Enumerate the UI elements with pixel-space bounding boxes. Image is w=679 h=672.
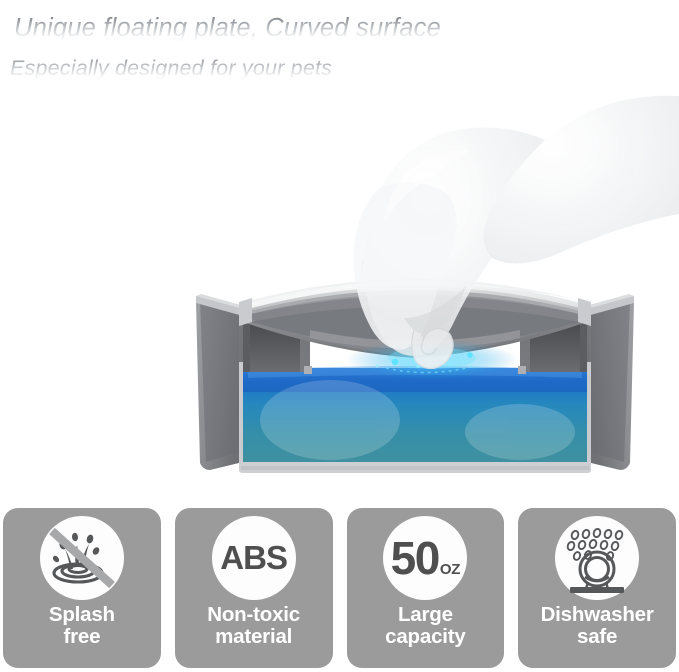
badge-label-line1: Dishwasher (518, 604, 676, 626)
abs-material-icon: ABS (212, 516, 296, 600)
badge-non-toxic-material: ABS Non-toxic material (175, 508, 333, 668)
badge-label-line2: free (3, 626, 161, 648)
capacity-value-group: 50 OZ (391, 535, 460, 581)
page-title: Unique floating plate, Curved surface (14, 14, 441, 43)
feature-badge-row: Splash free ABS Non-toxic material 50 OZ… (0, 508, 679, 672)
abs-text: ABS (220, 539, 287, 577)
badge-label-line1: Large (347, 604, 505, 626)
badge-dishwasher-safe: Dishwasher safe (518, 508, 676, 668)
capacity-unit: OZ (440, 561, 460, 578)
badge-label: Large capacity (347, 604, 505, 647)
badge-label: Dishwasher safe (518, 604, 676, 647)
capacity-icon: 50 OZ (383, 516, 467, 600)
dishwasher-safe-icon (555, 516, 639, 600)
badge-label-line1: Splash (3, 604, 161, 626)
capacity-number: 50 (391, 535, 439, 581)
badge-label-line1: Non-toxic (175, 604, 333, 626)
page-subtitle: Especially designed for your pets (10, 56, 332, 81)
badge-label-line2: capacity (347, 626, 505, 648)
badge-large-capacity: 50 OZ Large capacity (347, 508, 505, 668)
badge-label-line2: safe (518, 626, 676, 648)
badge-label: Splash free (3, 604, 161, 647)
badge-splash-free: Splash free (3, 508, 161, 668)
badge-label-line2: material (175, 626, 333, 648)
badge-label: Non-toxic material (175, 604, 333, 647)
headline-block: Unique floating plate, Curved surface Es… (0, 0, 679, 100)
splash-free-icon (40, 516, 124, 600)
